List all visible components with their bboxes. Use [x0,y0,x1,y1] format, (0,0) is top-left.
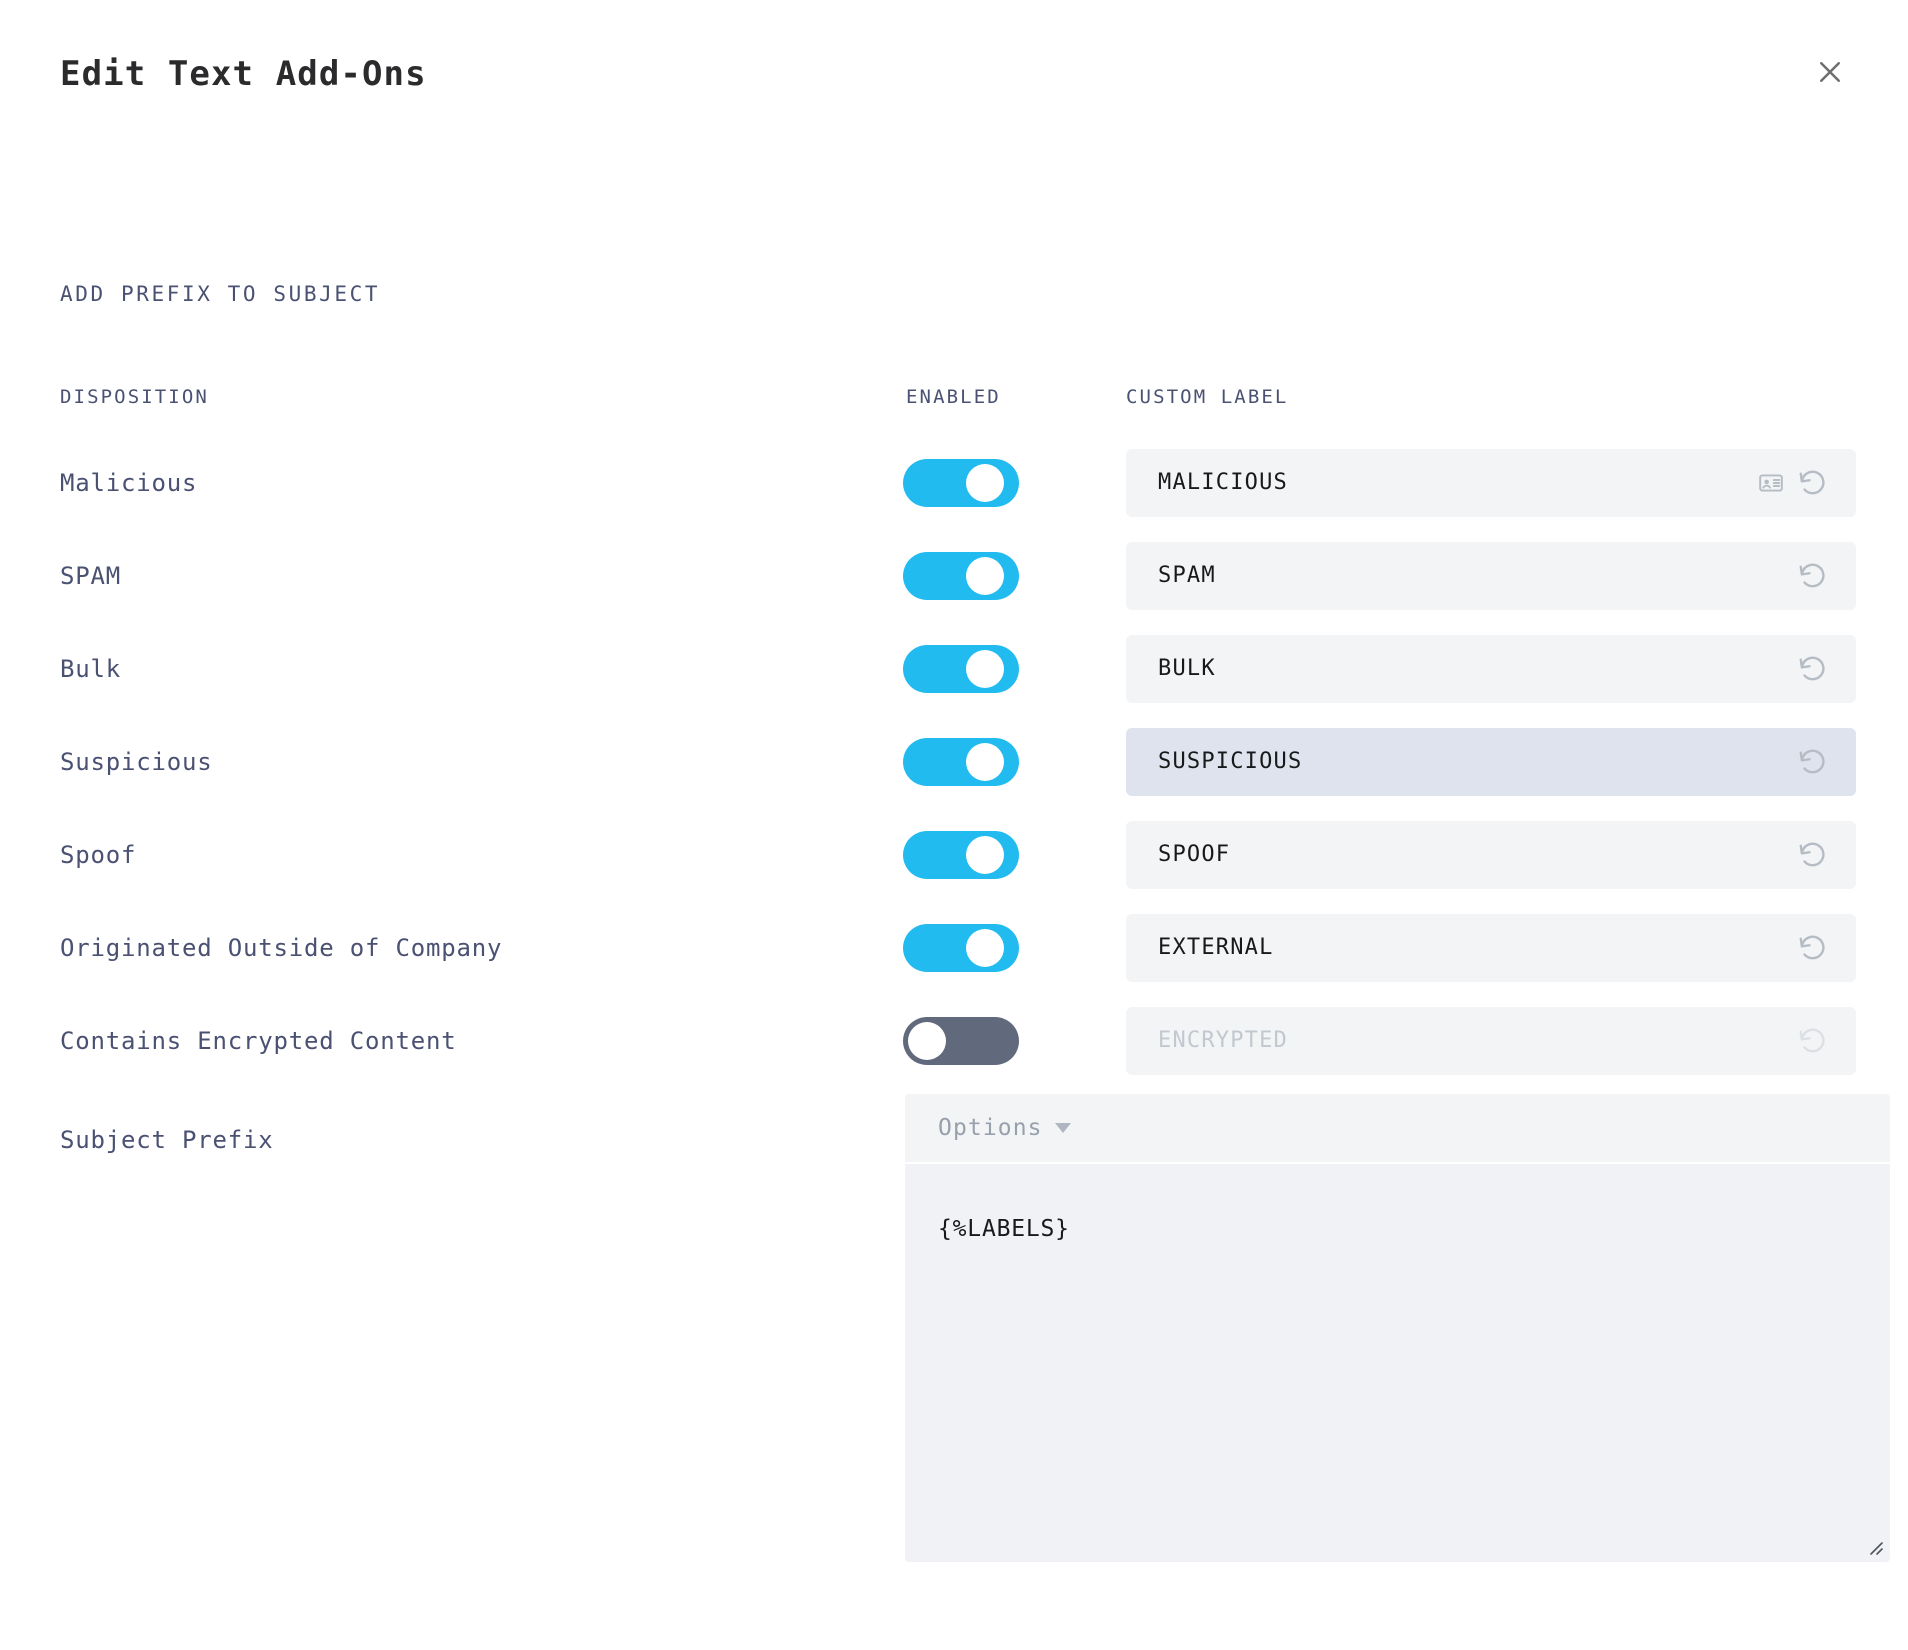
custom-label-input[interactable]: EXTERNAL [1126,914,1856,982]
enabled-toggle[interactable] [903,924,1019,972]
disposition-label: Originated Outside of Company [60,934,502,962]
toggle-knob [966,743,1004,781]
reset-icon[interactable] [1798,468,1828,498]
table-row: MaliciousMALICIOUS [0,436,1908,529]
subject-prefix-editor: Options {%LABELS} [905,1094,1890,1562]
custom-label-input: ENCRYPTED [1126,1007,1856,1075]
toggle-knob [966,929,1004,967]
custom-label-input[interactable]: SPOOF [1126,821,1856,889]
table-row: Contains Encrypted ContentENCRYPTED [0,994,1908,1087]
field-icon-group [1798,1026,1856,1056]
chevron-down-icon [1055,1123,1071,1133]
custom-label-input[interactable]: SUSPICIOUS [1126,728,1856,796]
options-dropdown-button[interactable]: Options [938,1115,1071,1141]
disposition-label: Spoof [60,841,136,869]
table-row: BulkBULK [0,622,1908,715]
toggle-knob [966,650,1004,688]
disposition-label: Malicious [60,469,197,497]
reset-icon[interactable] [1798,654,1828,684]
disposition-label: Bulk [60,655,121,683]
reset-icon [1798,1026,1828,1056]
table-row: Originated Outside of CompanyEXTERNAL [0,901,1908,994]
toggle-knob [966,464,1004,502]
disposition-label: SPAM [60,562,121,590]
column-header-custom-label: CUSTOM LABEL [1126,386,1288,408]
custom-label-input[interactable]: MALICIOUS [1126,449,1856,517]
table-row: SpoofSPOOF [0,808,1908,901]
custom-label-value: SPAM [1126,563,1798,588]
field-icon-group [1798,933,1856,963]
dialog-header: Edit Text Add-Ons [60,52,1860,112]
custom-label-value: ENCRYPTED [1126,1028,1798,1053]
toggle-knob [966,836,1004,874]
table-body: MaliciousMALICIOUSSPAMSPAMBulkBULKSuspic… [0,436,1908,1087]
edit-text-addons-dialog: Edit Text Add-Ons ADD PREFIX TO SUBJECT … [0,0,1908,1650]
textarea-resize-handle[interactable] [1864,1536,1884,1556]
column-header-disposition: DISPOSITION [60,386,209,408]
custom-label-value: EXTERNAL [1126,935,1798,960]
field-icon-group [1798,654,1856,684]
toggle-knob [966,557,1004,595]
section-header-add-prefix: ADD PREFIX TO SUBJECT [60,282,380,306]
subject-prefix-textarea[interactable]: {%LABELS} [905,1164,1890,1562]
enabled-toggle[interactable] [903,738,1019,786]
subject-prefix-value: {%LABELS} [938,1216,1890,1242]
close-button[interactable] [1808,50,1852,94]
field-icon-group [1798,747,1856,777]
reset-icon[interactable] [1798,747,1828,777]
reset-icon[interactable] [1798,840,1828,870]
page-title: Edit Text Add-Ons [60,52,1860,96]
disposition-label: Contains Encrypted Content [60,1027,456,1055]
table-row: SuspiciousSUSPICIOUS [0,715,1908,808]
custom-label-value: SPOOF [1126,842,1798,867]
custom-label-value: SUSPICIOUS [1126,749,1798,774]
field-icon-group [1798,840,1856,870]
toggle-knob [908,1022,946,1060]
disposition-label: Suspicious [60,748,213,776]
enabled-toggle[interactable] [903,831,1019,879]
field-icon-group [1758,468,1856,498]
editor-toolbar: Options [905,1094,1890,1164]
reset-icon[interactable] [1798,933,1828,963]
table-row: SPAMSPAM [0,529,1908,622]
enabled-toggle[interactable] [903,552,1019,600]
enabled-toggle[interactable] [903,645,1019,693]
custom-label-input[interactable]: BULK [1126,635,1856,703]
custom-label-value: MALICIOUS [1126,470,1758,495]
custom-label-value: BULK [1126,656,1798,681]
custom-label-input[interactable]: SPAM [1126,542,1856,610]
enabled-toggle[interactable] [903,1017,1019,1065]
enabled-toggle[interactable] [903,459,1019,507]
field-icon-group [1798,561,1856,591]
contact-card-icon[interactable] [1758,470,1784,496]
close-icon [1815,57,1845,87]
column-header-enabled: ENABLED [906,386,1001,408]
reset-icon[interactable] [1798,561,1828,591]
subject-prefix-label: Subject Prefix [60,1126,274,1154]
options-dropdown-label: Options [938,1115,1043,1141]
